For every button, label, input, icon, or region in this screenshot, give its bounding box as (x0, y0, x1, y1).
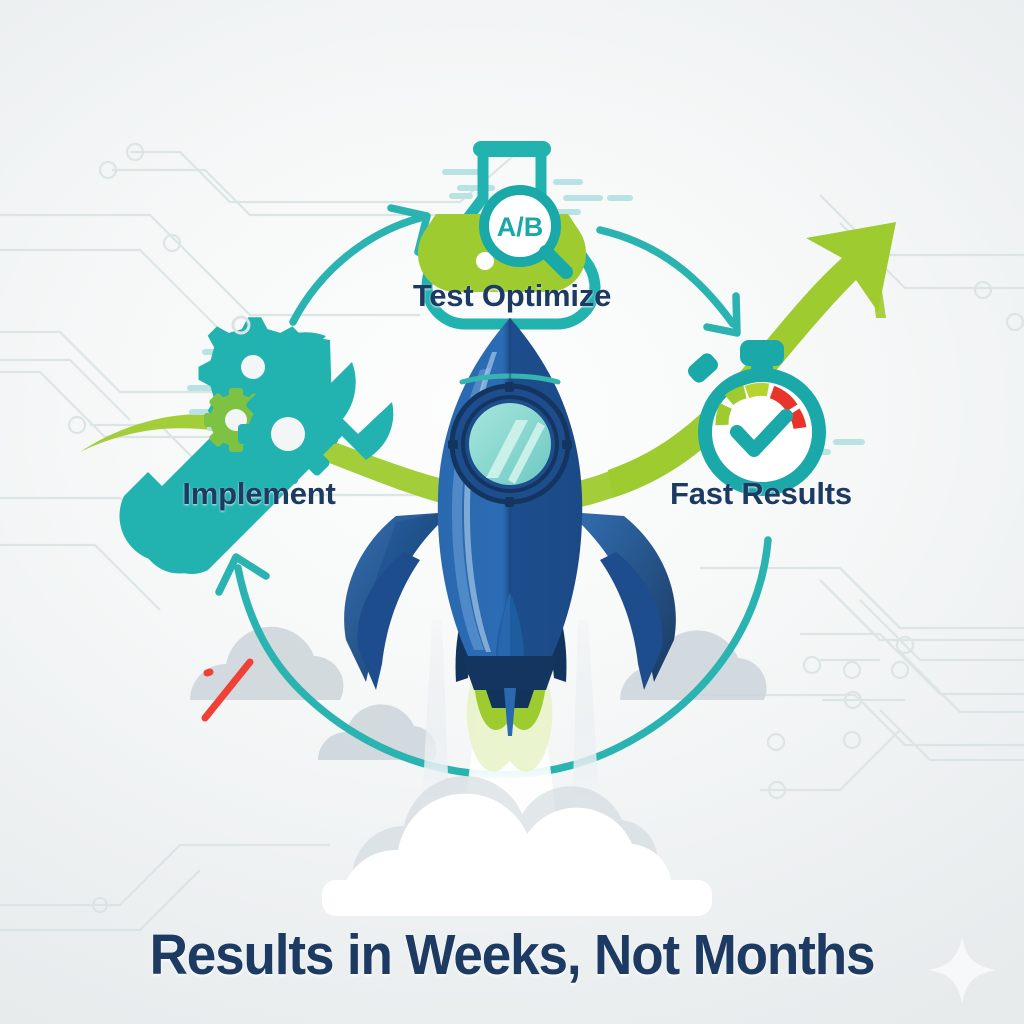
cycle-label-test-optimize: Test Optimize (413, 278, 611, 314)
cycle-label-implement: Implement (182, 476, 335, 512)
page-headline: Results in Weeks, Not Months (150, 922, 875, 988)
rocket-fin-right (568, 512, 676, 690)
rocket-icon (0, 0, 1024, 1024)
cycle-label-fast-results: Fast Results (670, 476, 852, 512)
infographic-canvas: A/B (0, 0, 1024, 1024)
rocket-fin-left (344, 510, 452, 690)
